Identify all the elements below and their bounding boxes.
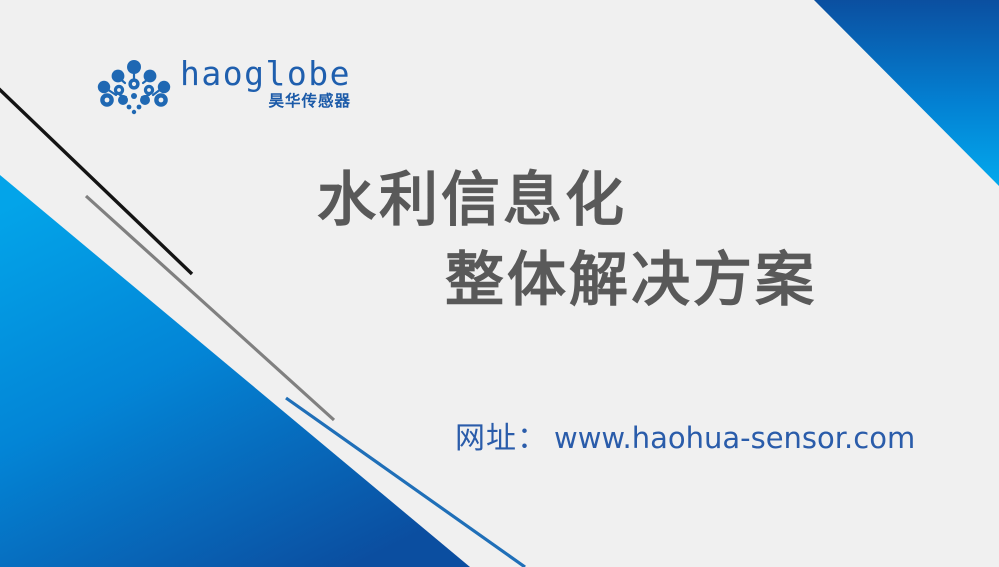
logo-wordmark: haoglobe: [180, 57, 351, 91]
website-label: 网址：: [455, 419, 548, 459]
website-line: 网址： www.haohua-sensor.com: [455, 418, 915, 459]
logo-subtitle: 昊华传感器: [268, 92, 351, 110]
network-nodes-logo-icon: [96, 59, 172, 115]
page-title: 水利信息化 整体解决方案: [300, 160, 900, 320]
presentation-title-slide: haoglobe 昊华传感器 水利信息化 整体解决方案 网址： www.haoh…: [0, 0, 999, 567]
website-url-link[interactable]: www.haohua-sensor.com: [554, 418, 915, 458]
title-line-secondary: 整体解决方案: [300, 240, 900, 320]
company-logo: haoglobe 昊华传感器: [96, 57, 351, 119]
logo-text-block: haoglobe 昊华传感器: [180, 57, 351, 110]
title-line-primary: 水利信息化: [300, 160, 900, 240]
top-right-triangle-decoration: [814, 0, 999, 186]
